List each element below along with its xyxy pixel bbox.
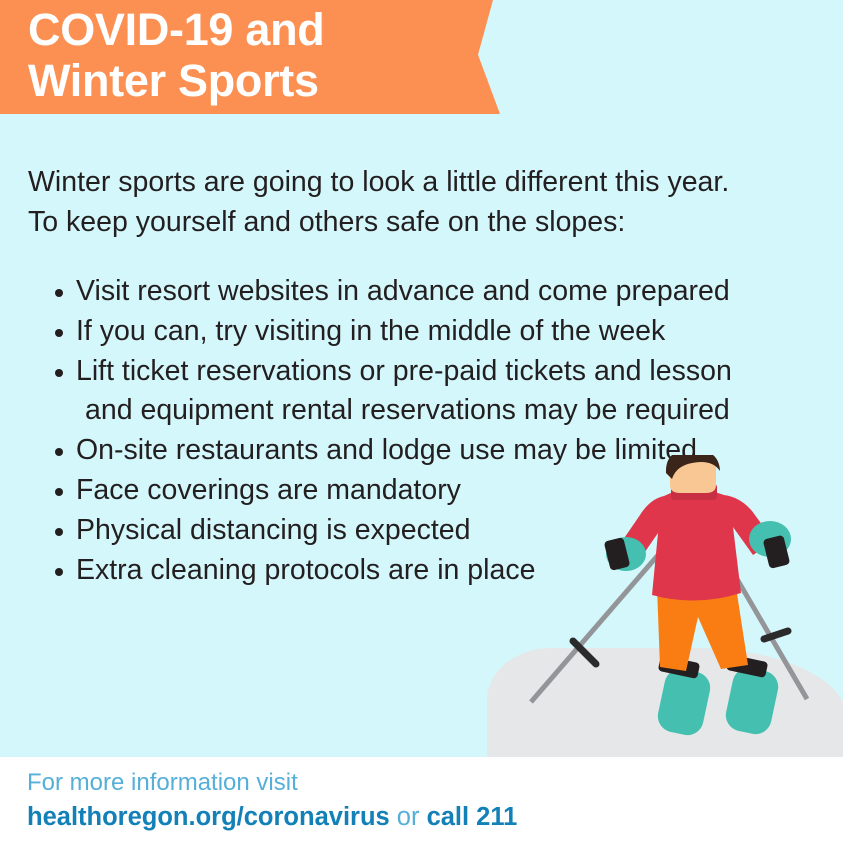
intro-paragraph: Winter sports are going to look a little…	[28, 162, 828, 243]
list-item-text: If you can, try visiting in the middle o…	[76, 315, 665, 347]
footer-contact-line: healthoregon.org/coronavirus or call 211	[27, 805, 517, 831]
left-glove-icon	[604, 537, 646, 571]
footer-conjunction: or	[390, 803, 427, 831]
list-item: Visit resort websites in advance and com…	[46, 272, 826, 311]
list-item-text: Visit resort websites in advance and com…	[76, 275, 730, 307]
list-item-continuation: and equipment rental reservations may be…	[76, 391, 826, 430]
footer-bar: For more information visit healthoregon.…	[0, 757, 843, 843]
covid-winter-sports-poster: COVID-19 and Winter Sports Winter sports…	[0, 0, 843, 843]
phone-link[interactable]: call 211	[427, 803, 518, 831]
website-link[interactable]: healthoregon.org/coronavirus	[27, 803, 390, 831]
list-item-text: Extra cleaning protocols are in place	[76, 554, 535, 586]
list-item-text: Face coverings are mandatory	[76, 474, 461, 506]
left-ski-pole-icon	[531, 547, 665, 702]
list-item: If you can, try visiting in the middle o…	[46, 312, 826, 351]
skier-illustration	[500, 455, 843, 757]
footer-info-label: For more information visit	[27, 771, 298, 795]
skier-head	[666, 455, 720, 493]
list-item-text: Physical distancing is expected	[76, 514, 470, 546]
page-title: COVID-19 and Winter Sports	[28, 4, 478, 107]
list-item-text: Lift ticket reservations or pre-paid tic…	[76, 355, 732, 387]
list-item: Lift ticket reservations or pre-paid tic…	[46, 352, 826, 430]
right-glove-icon	[749, 521, 791, 569]
